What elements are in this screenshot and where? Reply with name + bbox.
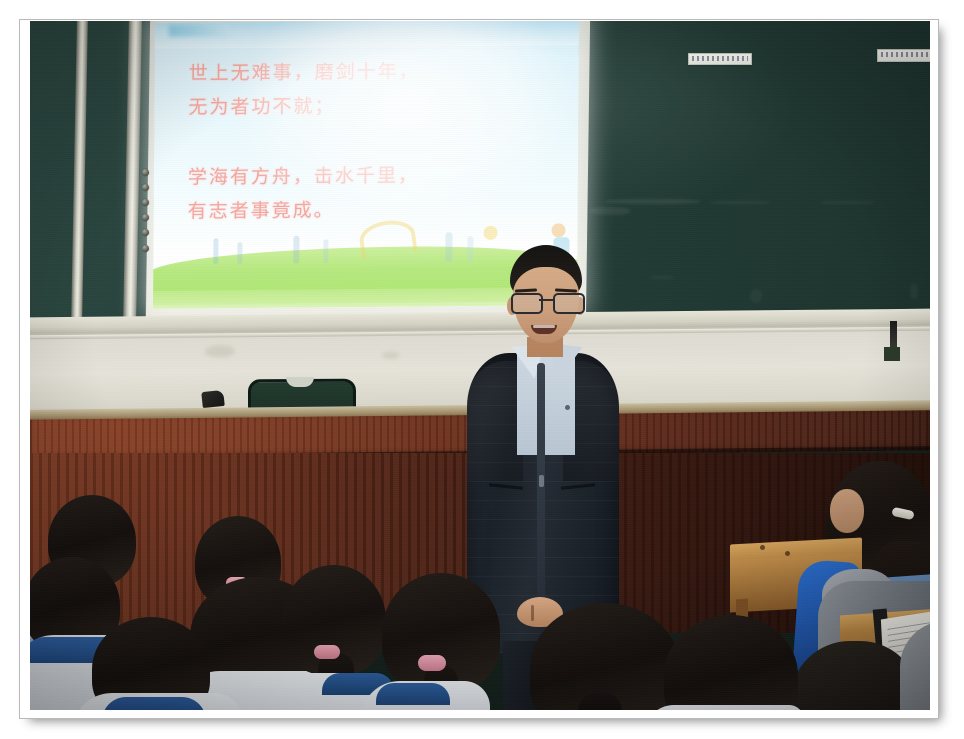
screen-mount-screw [142, 229, 149, 236]
student-right-face [830, 489, 864, 533]
photo-frame: 世上无难事，磨剑十年， 无为者功不就；学海有方舟，击水千里， 有志者事竟成。 [0, 0, 964, 739]
dark-bag-on-counter [201, 390, 225, 408]
wall-notice-right-text [881, 52, 930, 57]
chalk-smudge [710, 201, 770, 204]
teacher-hand-crease [531, 605, 534, 621]
slide-band-accent [169, 24, 229, 37]
student-uniform [644, 705, 804, 710]
screen-mount-screw [142, 169, 149, 176]
desk-bolt-hole [760, 545, 765, 550]
wall-stain [205, 345, 235, 357]
slide-figure-icon [293, 236, 299, 264]
teacher-teeth [533, 325, 555, 328]
chalk-smudge [749, 288, 764, 304]
chalk-smudge [590, 207, 630, 215]
slide-figure-icon [323, 239, 328, 263]
slide-ball-icon [483, 226, 497, 240]
teacher-shoulder-left [467, 361, 523, 481]
screen-mount-screw [142, 214, 149, 221]
slide-poem-text: 世上无难事，磨剑十年， 无为者功不就；学海有方舟，击水千里， 有志者事竟成。 [188, 54, 519, 229]
classroom-photograph: 世上无难事，磨剑十年， 无为者功不就；学海有方舟，击水千里， 有志者事竟成。 [30, 21, 930, 710]
wall-notice-left-text [692, 56, 748, 61]
student-collar [102, 697, 206, 710]
chalk-smudge [605, 199, 700, 204]
wall-notice-left [688, 53, 752, 65]
eyeglass-bridge [539, 299, 553, 301]
chalk-smudge [910, 283, 918, 299]
screen-mount-screw [142, 245, 149, 252]
eyeglasses-icon [509, 293, 583, 311]
slide-figure-icon [213, 238, 218, 264]
eyeglass-lens-right [553, 293, 585, 314]
desk-bolt-hole [785, 551, 790, 556]
teacher-jacket-zipper [537, 363, 545, 613]
teacher-jacket-snap [565, 405, 570, 410]
slide-poem-stanza-1: 世上无难事，磨剑十年， 无为者功不就； [188, 61, 419, 119]
screen-mount-screw [142, 184, 149, 191]
screen-mount-screw [142, 199, 149, 206]
chalk-smudge [650, 276, 675, 279]
hair-scrunchie-icon [314, 645, 340, 659]
wall-bracket-box [884, 347, 900, 361]
slide-poem-stanza-2: 学海有方舟，击水千里， 有志者事竟成。 [188, 165, 419, 223]
slide-figure-icon [551, 223, 565, 237]
hair-scrunchie-icon [418, 655, 446, 671]
teacher-zipper-pull [539, 475, 544, 487]
chalk-smudge [820, 201, 875, 204]
wall-stain [382, 352, 400, 359]
slide-figure-icon [237, 242, 242, 264]
eyeglass-lens-left [511, 293, 543, 314]
slide-figure-icon [445, 232, 452, 262]
student-collar [376, 683, 450, 705]
wall-notice-right [877, 49, 930, 62]
